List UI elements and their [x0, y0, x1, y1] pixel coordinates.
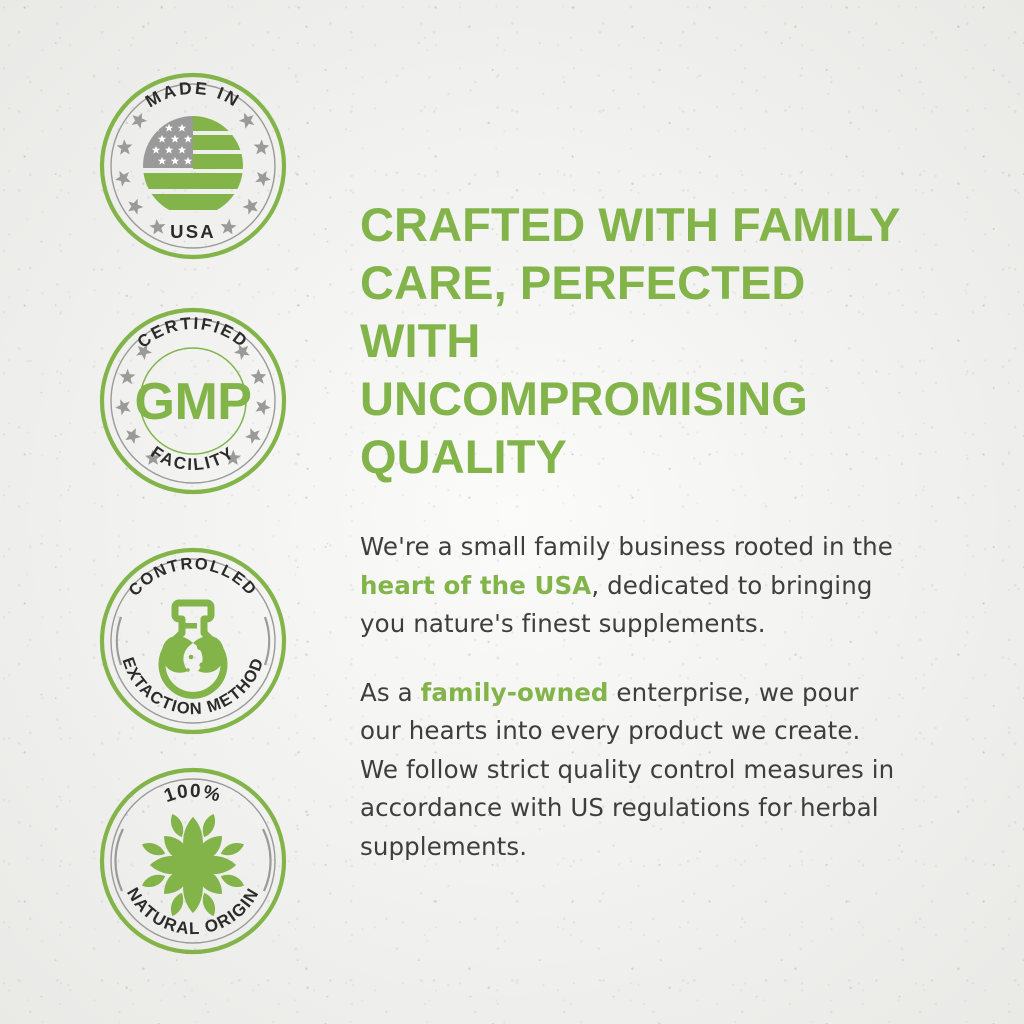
certification-badge-list: MADE IN USA [88, 0, 298, 1024]
badge-top-text: 100% [161, 781, 223, 807]
flask-with-leaves-icon [162, 603, 224, 695]
paragraph-one: We're a small family business rooted in … [360, 528, 900, 644]
paragraph-one-part-one: We're a small family business rooted in … [360, 532, 893, 561]
paragraph-two-part-one: As a [360, 678, 421, 707]
badge-natural-origin[interactable]: 100% NATURAL ORIGIN [88, 763, 298, 959]
usa-flag-circle-icon [140, 116, 253, 210]
badge-bottom-text: USA [170, 221, 216, 242]
page-title: CRAFTED WITH FAMILY CARE, PERFECTED WITH… [360, 196, 935, 486]
paragraph-two: As a family-owned enterprise, we pour ou… [360, 674, 900, 867]
right-decorative-arc [263, 829, 271, 891]
content-column: CRAFTED WITH FAMILY CARE, PERFECTED WITH… [360, 196, 930, 896]
paragraph-one-highlight: heart of the USA [360, 571, 591, 600]
left-decorative-arc [117, 617, 121, 665]
leaf-rosette-icon [140, 812, 246, 918]
badge-made-in-usa[interactable]: MADE IN USA [88, 68, 298, 264]
gmp-text-icon: GMP [135, 373, 252, 431]
badge-bottom-text: FACILITY [147, 443, 238, 475]
promo-panel: MADE IN USA [0, 0, 1024, 1024]
left-decorative-arc [115, 829, 123, 891]
paragraph-two-highlight: family-owned [421, 678, 609, 707]
badge-gmp-certified-facility[interactable]: CERTIFIED GMP FACILITY [88, 303, 298, 499]
right-decorative-arc [265, 617, 269, 665]
badge-bottom-text: EXTACTION METHOD [118, 655, 267, 718]
badge-controlled-extraction-method[interactable]: CONTROLLED EXTACTION METHOD [88, 543, 298, 739]
